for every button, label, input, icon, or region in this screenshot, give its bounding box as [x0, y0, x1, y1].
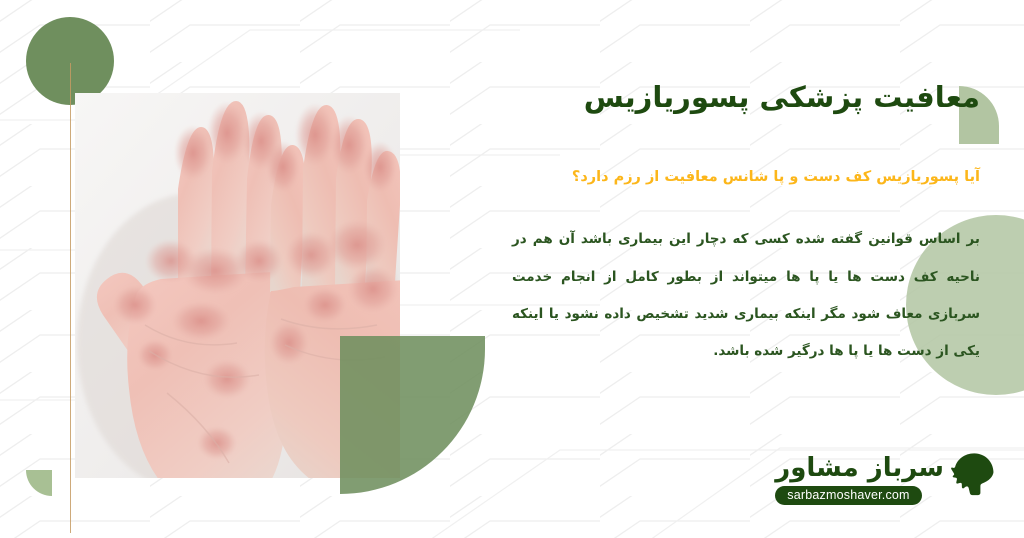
logo-text-block: سرباز مشاور sarbazmoshaver.com — [775, 455, 944, 505]
subtitle-question: آیا پسوریازیس کف دست و پا شانس معافیت از… — [512, 167, 980, 187]
logo-website-url: sarbazmoshaver.com — [775, 486, 921, 505]
text-column: معافیت پزشکی پسوریازیس آیا پسوریازیس کف … — [512, 78, 980, 370]
vertical-accent-line — [70, 63, 71, 533]
body-paragraph: بر اساس قوانین گفته شده کسی که دچار این … — [512, 221, 980, 370]
site-logo[interactable]: سرباز مشاور sarbazmoshaver.com — [775, 450, 1000, 510]
page-title: معافیت پزشکی پسوریازیس — [512, 78, 980, 117]
logo-brand-name: سرباز مشاور — [775, 455, 944, 482]
psoriasis-exemption-banner: معافیت پزشکی پسوریازیس آیا پسوریازیس کف … — [0, 0, 1024, 538]
soldier-head-icon — [948, 450, 1000, 508]
